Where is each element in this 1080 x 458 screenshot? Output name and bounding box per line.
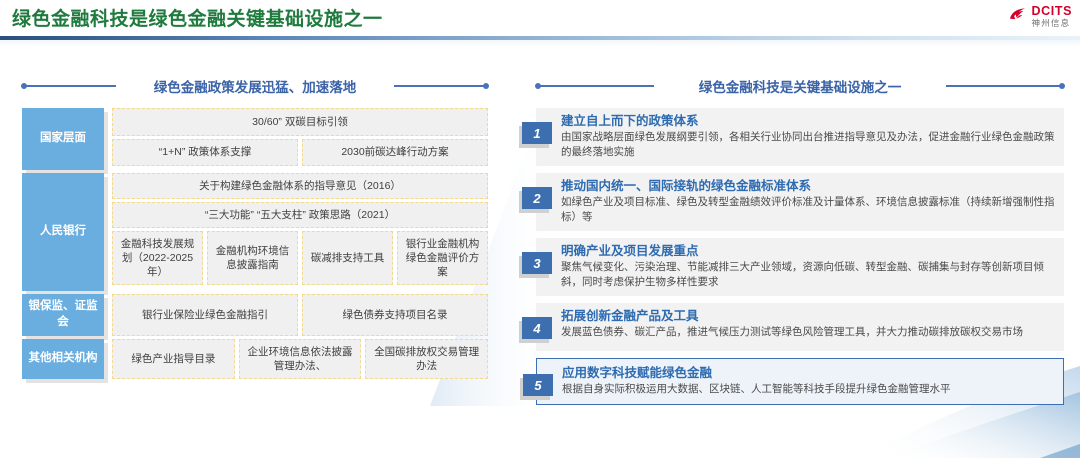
header-dot-left (21, 83, 27, 89)
table-row: 人民银行 关于构建绿色金融体系的指导意见（2016） “三大功能” “五大支柱”… (22, 173, 488, 291)
row-label: 人民银行 (22, 173, 104, 291)
table-cell: 关于构建绿色金融体系的指导意见（2016） (112, 173, 488, 199)
list-item: 1 建立自上而下的政策体系 由国家战略层面绿色发展纲要引领，各相关行业协同出台推… (536, 108, 1064, 166)
table-cell: 金融科技发展规划（2022-2025年） (112, 231, 203, 285)
table-cell: “1+N” 政策体系支撑 (112, 139, 298, 166)
left-section-header: 绿色金融政策发展迅猛、加速落地 (22, 76, 488, 96)
header-dot-right (483, 83, 489, 89)
row-label: 国家层面 (22, 108, 104, 170)
policy-matrix-table: 国家层面 30/60” 双碳目标引领 “1+N” 政策体系支撑 2030前碳达峰… (22, 108, 488, 382)
title-divider-glow (0, 40, 1080, 47)
table-row: 其他相关机构 绿色产业指导目录 企业环境信息依法披露管理办法、 全国碳排放权交易… (22, 339, 488, 379)
list-item: 2 推动国内统一、国际接轨的绿色金融标准体系 如绿色产业及项目标准、绿色及转型金… (536, 173, 1064, 231)
key-points-list: 1 建立自上而下的政策体系 由国家战略层面绿色发展纲要引领，各相关行业协同出台推… (536, 108, 1064, 412)
header-rule-right (946, 85, 1064, 87)
point-description: 根据自身实际积极运用大数据、区块链、人工智能等科技手段提升绿色金融管理水平 (562, 382, 1055, 397)
table-cell: 企业环境信息依法披露管理办法、 (239, 339, 362, 379)
point-title: 推动国内统一、国际接轨的绿色金融标准体系 (561, 178, 1056, 194)
table-cell: 绿色债券支持项目名录 (302, 294, 488, 336)
dcits-swoosh-icon (1007, 6, 1028, 26)
page-title: 绿色金融科技是绿色金融关键基础设施之一 (12, 4, 383, 31)
table-row: 银保监、证监会 银行业保险业绿色金融指引 绿色债券支持项目名录 (22, 294, 488, 336)
table-cell: 金融机构环境信息披露指南 (207, 231, 298, 285)
row-label: 银保监、证监会 (22, 294, 104, 336)
point-number-badge: 1 (522, 122, 552, 144)
point-number-badge: 4 (522, 317, 552, 339)
header-rule-left (536, 85, 654, 87)
list-item: 4 拓展创新金融产品及工具 发展蓝色债券、碳汇产品，推进气候压力测试等绿色风险管… (536, 303, 1064, 351)
point-description: 如绿色产业及项目标准、绿色及转型金融绩效评价标准及计量体系、环境信息披露标准（持… (561, 195, 1056, 225)
header-dot-right (1059, 83, 1065, 89)
point-number-badge: 5 (523, 374, 553, 396)
table-cell: 银行业保险业绿色金融指引 (112, 294, 298, 336)
point-description: 聚焦气候变化、污染治理、节能减排三大产业领域，资源向低碳、转型金融、碳捕集与封存… (561, 260, 1056, 290)
header-rule-left (22, 85, 116, 87)
table-cell: 绿色产业指导目录 (112, 339, 235, 379)
table-cell: 2030前碳达峰行动方案 (302, 139, 488, 166)
logo-subtitle: 神州信息 (1032, 19, 1073, 28)
row-label: 其他相关机构 (22, 339, 104, 379)
table-cell: 全国碳排放权交易管理办法 (365, 339, 488, 379)
brand-logo: DCITS 神州信息 (1007, 5, 1073, 27)
table-cell: 银行业金融机构绿色金融评价方案 (397, 231, 488, 285)
point-title: 拓展创新金融产品及工具 (561, 308, 1056, 324)
point-number-badge: 3 (522, 252, 552, 274)
logo-name: DCITS (1032, 5, 1073, 18)
list-item: 3 明确产业及项目发展重点 聚焦气候变化、污染治理、节能减排三大产业领域，资源向… (536, 238, 1064, 296)
point-number-badge: 2 (522, 187, 552, 209)
point-description: 由国家战略层面绿色发展纲要引领，各相关行业协同出台推进指导意见及办法，促进金融行… (561, 130, 1056, 160)
right-section-header: 绿色金融科技是关键基础设施之一 (536, 76, 1064, 96)
header-dot-left (535, 83, 541, 89)
table-cell: “三大功能” “五大支柱” 政策思路（2021） (112, 202, 488, 228)
point-title: 建立自上而下的政策体系 (561, 113, 1056, 129)
point-description: 发展蓝色债券、碳汇产品，推进气候压力测试等绿色风险管理工具，并大力推动碳排放碳权… (561, 325, 1056, 340)
list-item-highlighted: 5 应用数字科技赋能绿色金融 根据自身实际积极运用大数据、区块链、人工智能等科技… (536, 358, 1064, 405)
table-cell: 30/60” 双碳目标引领 (112, 108, 488, 136)
left-section-title: 绿色金融政策发展迅猛、加速落地 (140, 76, 371, 96)
table-row: 国家层面 30/60” 双碳目标引领 “1+N” 政策体系支撑 2030前碳达峰… (22, 108, 488, 170)
table-cell: 碳减排支持工具 (302, 231, 393, 285)
point-title: 应用数字科技赋能绿色金融 (562, 365, 1055, 381)
header-rule-right (394, 85, 488, 87)
point-title: 明确产业及项目发展重点 (561, 243, 1056, 259)
right-section-title: 绿色金融科技是关键基础设施之一 (685, 76, 916, 96)
